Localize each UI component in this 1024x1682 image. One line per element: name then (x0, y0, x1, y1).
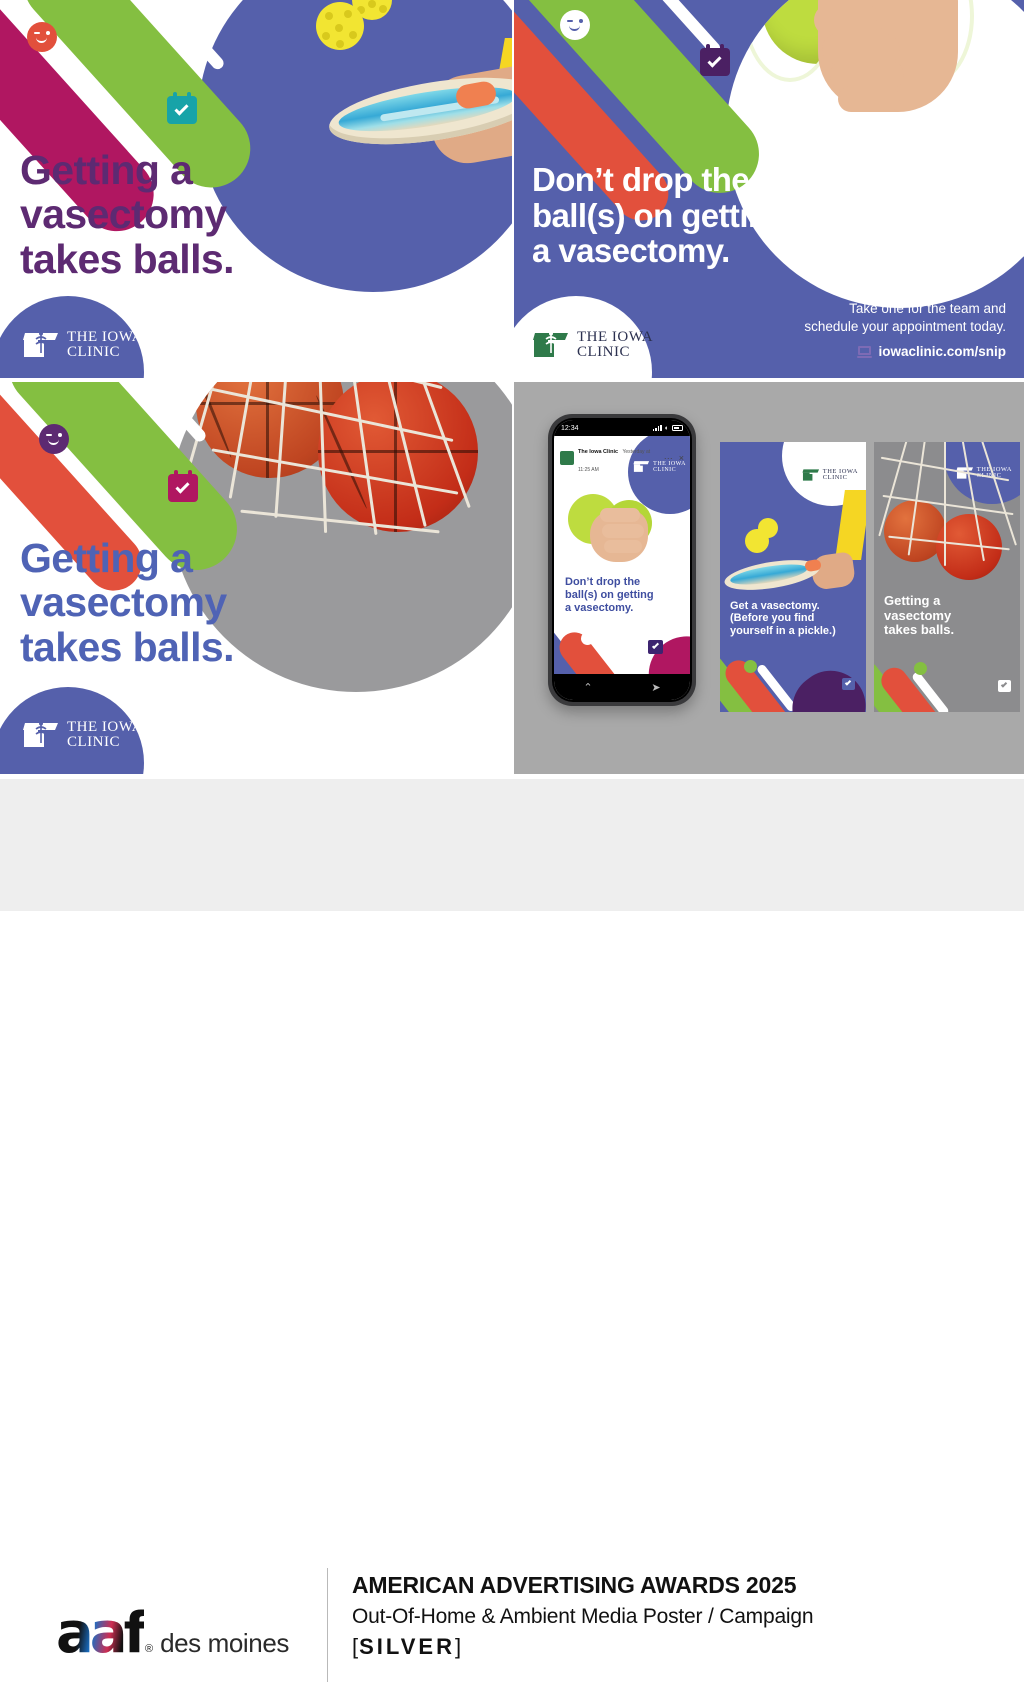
calendar-check-icon (700, 48, 730, 76)
wink-emoji-icon (39, 424, 69, 454)
award-level: [SILVER] (352, 1634, 813, 1660)
photo-finger (602, 524, 644, 538)
url-text: iowaclinic.com/snip (878, 344, 1006, 359)
wink-emoji-icon (914, 662, 927, 675)
iowa-clinic-mark-icon (22, 721, 60, 749)
url-tennis[interactable]: iowaclinic.com/snip (857, 344, 1006, 359)
iowa-clinic-wordmark: THE IOWA CLINIC (577, 330, 653, 360)
basketball-right (318, 382, 478, 532)
nav-send-icon[interactable]: ➤ (651, 681, 660, 694)
mini-poster-headline: Get a vasectomy. (Before you find yourse… (730, 600, 836, 637)
iowa-clinic-wordmark: THE IOWA CLINIC (67, 720, 143, 750)
logo-line-1: THE IOWA (67, 720, 143, 735)
phone-nav-bar: ⌃ ➤ (554, 674, 690, 700)
aaf-des-moines-logo: aaf ® des moines (56, 1601, 289, 1666)
nav-up-icon[interactable]: ⌃ (583, 681, 592, 694)
logo-line-2: CLINIC (67, 735, 143, 750)
calendar-check-icon (648, 640, 663, 654)
wifi-icon: ◐ (665, 425, 669, 432)
logo-line-2: CLINIC (67, 345, 143, 360)
logo-line-1: THE IOWA (67, 330, 143, 345)
laptop-icon (857, 346, 872, 358)
award-category: Out-Of-Home & Ambient Media Poster / Cam… (352, 1605, 813, 1629)
poster-campaign-board: THE IOWA CLINIC Getting a vasectomy take… (0, 0, 1024, 911)
photo-finger (830, 61, 904, 89)
logo-line-1: THE IOWA (577, 330, 653, 345)
iowa-clinic-wordmark: THE IOWA CLINIC (67, 330, 143, 360)
award-bar: aaf ® des moines AMERICAN ADVERTISING AW… (0, 779, 1024, 911)
headline-tennis: Don’t drop the ball(s) on getting a vase… (532, 162, 787, 269)
award-level-text: SILVER (359, 1634, 455, 1659)
award-details: AMERICAN ADVERTISING AWARDS 2025 Out-Of-… (352, 1572, 813, 1660)
aaf-wordmark: aaf (56, 1601, 144, 1666)
iowa-clinic-mark-icon (22, 331, 60, 359)
headline-pickleball: Getting a vasectomy takes balls. (20, 148, 234, 281)
wink-emoji-icon (27, 22, 57, 52)
mini-poster-basketball: THE IOWA CLINIC Getting a vasectomy take… (874, 442, 1020, 712)
photo-thumb (876, 0, 914, 32)
iowa-clinic-logo: THE IOWA CLINIC (22, 720, 143, 750)
logo-line-2: CLINIC (823, 475, 858, 482)
more-options-icon[interactable]: ··· (664, 453, 673, 463)
iowa-clinic-mark-icon (802, 468, 820, 482)
des-moines-label: des moines (160, 1628, 289, 1659)
photo-finger (814, 4, 880, 36)
subline-tennis: Take one for the team and schedule your … (804, 300, 1006, 336)
signal-icon (653, 425, 662, 431)
award-title: AMERICAN ADVERTISING AWARDS 2025 (352, 1572, 813, 1599)
registered-mark: ® (145, 1643, 153, 1655)
pickleball-ball-front (316, 2, 364, 50)
bracket-open: [ (352, 1634, 359, 1659)
phone-headline: Don’t drop the ball(s) on getting a vase… (565, 576, 654, 616)
close-icon[interactable]: × (679, 453, 684, 463)
logo-line-2: CLINIC (577, 345, 653, 360)
iowa-clinic-mark-icon (532, 331, 570, 359)
mini-poster-pickleball: THE IOWA CLINIC Get a vasectomy. (Before… (720, 442, 866, 712)
account-name: The Iowa Clinic (578, 449, 618, 455)
iowa-clinic-logo: THE IOWA CLINIC (532, 330, 653, 360)
pickleball-ball-front (745, 529, 769, 553)
photo-finger (600, 508, 640, 522)
phone-mockup: 12:34 ◐ The Iowa Clinic Yesterday at 11:… (548, 414, 696, 706)
iowa-clinic-logo: THE IOWA CLINIC (802, 468, 858, 482)
mockup-panel: 12:34 ◐ The Iowa Clinic Yesterday at 11:… (514, 382, 1024, 774)
photo-finger (822, 34, 900, 64)
wink-emoji-icon (560, 10, 590, 40)
bracket-close: ] (455, 1634, 462, 1659)
photo-finger (604, 540, 642, 553)
photo-finger (838, 86, 900, 112)
calendar-check-icon (842, 678, 855, 690)
calendar-check-icon (168, 474, 198, 502)
wink-emoji-icon (581, 632, 594, 645)
calendar-check-icon (167, 96, 197, 124)
headline-basketball: Getting a vasectomy takes balls. (20, 536, 234, 669)
divider (327, 1568, 328, 1682)
calendar-check-icon (998, 680, 1011, 692)
mini-poster-headline: Getting a vasectomy takes balls. (884, 594, 954, 638)
wink-emoji-icon (744, 660, 757, 673)
iowa-clinic-wordmark: THE IOWA CLINIC (823, 469, 858, 482)
battery-icon (672, 425, 683, 431)
iowa-clinic-logo: THE IOWA CLINIC (22, 330, 143, 360)
status-time: 12:34 (561, 425, 579, 432)
post-header: The Iowa Clinic Yesterday at 11:25 AM ··… (554, 436, 690, 481)
phone-notch (594, 420, 650, 433)
avatar (560, 451, 574, 465)
